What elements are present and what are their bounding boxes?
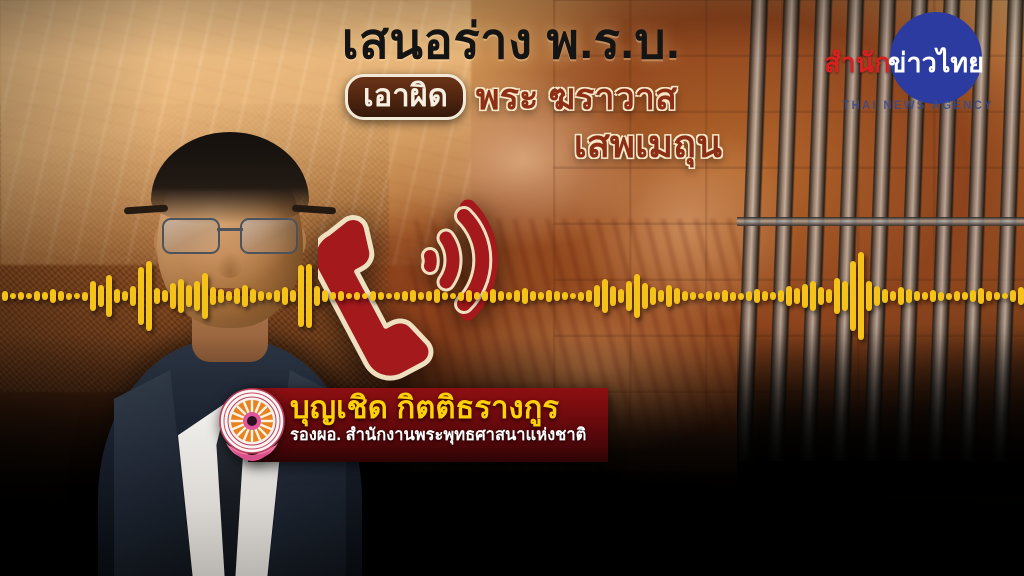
waveform-bar — [962, 292, 968, 300]
waveform-bar — [778, 290, 784, 302]
waveform-bar — [682, 291, 688, 301]
news-graphic-stage: เสนอร่าง พ.ร.บ. เอาผิด พระ ฆราวาส เสพเมถ… — [0, 0, 1024, 576]
dharma-wheel-emblem — [216, 385, 288, 465]
waveform-bar — [98, 285, 104, 307]
waveform-bar — [218, 289, 224, 303]
audio-waveform — [0, 246, 1024, 346]
waveform-bar — [2, 291, 8, 301]
waveform-bar — [130, 286, 136, 306]
waveform-bar — [914, 291, 920, 301]
waveform-bar — [482, 291, 488, 301]
waveform-bar — [50, 289, 56, 303]
waveform-bar — [74, 293, 80, 299]
name-banner: บุญเชิด กิตติธรางกูร รองผอ. สำนักงานพระพ… — [216, 388, 608, 462]
waveform-bar — [58, 291, 64, 301]
waveform-bar — [538, 292, 544, 300]
waveform-bar — [162, 290, 168, 302]
waveform-bar — [906, 289, 912, 303]
waveform-bar — [410, 290, 416, 302]
waveform-bar — [506, 292, 512, 300]
waveform-bar — [338, 291, 344, 301]
waveform-bar — [882, 289, 888, 303]
headline-line-3-wrap: เสพเมถุน — [286, 126, 736, 164]
waveform-bar — [610, 286, 616, 306]
waveform-bar — [714, 292, 720, 300]
waveform-bar — [754, 289, 760, 303]
waveform-bar — [674, 288, 680, 304]
waveform-bar — [34, 291, 40, 301]
waveform-bar — [994, 292, 1000, 300]
waveform-bar — [330, 292, 336, 300]
waveform-bar — [946, 293, 952, 300]
waveform-bar — [474, 292, 480, 300]
waveform-bar — [562, 292, 568, 300]
waveform-bar — [818, 287, 824, 305]
waveform-bar — [922, 292, 928, 300]
waveform-bar — [762, 291, 768, 301]
waveform-bar — [810, 281, 816, 311]
waveform-bar — [730, 292, 736, 301]
waveform-bar — [802, 284, 808, 308]
waveform-bar — [634, 274, 640, 318]
waveform-bar — [18, 292, 24, 300]
waveform-bar — [1002, 293, 1008, 299]
waveform-bar — [210, 287, 216, 305]
waveform-bar — [466, 290, 472, 302]
waveform-bar — [738, 293, 744, 300]
waveform-bar — [170, 283, 176, 309]
waveform-bar — [938, 292, 944, 301]
waveform-bar — [378, 292, 384, 300]
headline-badge: เอาผิด — [345, 74, 466, 120]
waveform-bar — [986, 291, 992, 301]
waveform-bar — [194, 281, 200, 311]
waveform-bar — [362, 293, 368, 299]
waveform-bar — [898, 287, 904, 305]
waveform-bar — [138, 267, 144, 325]
waveform-bar — [354, 292, 360, 300]
headline-block: เสนอร่าง พ.ร.บ. เอาผิด พระ ฆราวาส เสพเมถ… — [286, 18, 736, 164]
waveform-bar — [602, 279, 608, 313]
logo-english-text: THAI NEWS AGENCY — [842, 100, 994, 112]
waveform-bar — [978, 288, 984, 304]
logo-thai-red: สำนัก — [824, 41, 890, 84]
eyeglass-bridge — [217, 228, 243, 231]
waveform-bar — [426, 291, 432, 301]
waveform-bar — [154, 288, 160, 304]
waveform-bar — [554, 291, 560, 301]
waveform-bar — [26, 293, 32, 299]
waveform-bar — [490, 289, 496, 303]
waveform-bar — [242, 285, 248, 307]
waveform-bar — [290, 290, 296, 302]
waveform-bar — [322, 290, 328, 302]
waveform-bar — [10, 293, 16, 299]
waveform-bar — [770, 292, 776, 300]
waveform-bar — [650, 287, 656, 305]
waveform-bar — [314, 286, 320, 306]
waveform-bar — [858, 252, 864, 340]
waveform-bar — [82, 292, 88, 301]
waveform-bar — [106, 275, 112, 317]
waveform-bar — [386, 293, 392, 299]
thai-news-agency-logo: สำนัก ข่าวไทย THAI NEWS AGENCY — [820, 12, 1010, 120]
headline-line-2: พระ ฆราวาส — [476, 79, 677, 115]
waveform-bar — [1018, 287, 1024, 305]
headline-line-1: เสนอร่าง พ.ร.บ. — [286, 18, 736, 67]
waveform-bar — [418, 292, 424, 300]
waveform-bar — [954, 291, 960, 301]
waveform-bar — [578, 292, 584, 301]
logo-thai-white: ข่าวไทย — [888, 41, 984, 84]
waveform-bar — [690, 292, 696, 300]
waveform-bar — [746, 291, 752, 301]
waveform-bar — [186, 285, 192, 307]
waveform-bar — [842, 281, 848, 311]
waveform-bar — [146, 261, 152, 331]
waveform-bar — [298, 265, 304, 327]
waveform-bar — [514, 290, 520, 302]
waveform-bar — [114, 289, 120, 303]
waveform-bar — [930, 290, 936, 302]
waveform-bar — [394, 292, 400, 300]
waveform-bar — [1010, 290, 1016, 302]
waveform-bar — [594, 285, 600, 307]
waveform-bar — [42, 292, 48, 300]
waveform-bar — [306, 264, 312, 328]
waveform-bar — [642, 283, 648, 309]
waveform-bar — [522, 288, 528, 304]
waveform-bar — [826, 289, 832, 303]
waveform-bar — [90, 281, 96, 311]
waveform-bar — [122, 291, 128, 301]
waveform-bar — [498, 291, 504, 301]
waveform-bar — [546, 290, 552, 302]
waveform-bar — [658, 290, 664, 302]
waveform-bar — [66, 293, 72, 300]
waveform-bar — [234, 288, 240, 304]
waveform-bar — [530, 291, 536, 301]
waveform-bar — [258, 291, 264, 301]
waveform-bar — [626, 281, 632, 311]
waveform-bar — [794, 288, 800, 304]
headline-row-2: เอาผิด พระ ฆราวาส — [286, 74, 736, 120]
name-banner-text: บุญเชิด กิตติธรางกูร รองผอ. สำนักงานพระพ… — [290, 392, 598, 444]
waveform-bar — [402, 291, 408, 301]
waveform-bar — [586, 290, 592, 302]
waveform-bar — [450, 293, 456, 299]
waveform-bar — [370, 291, 376, 301]
waveform-bar — [970, 290, 976, 302]
headline-line-3: เสพเมถุน — [574, 124, 722, 166]
waveform-bar — [458, 292, 464, 301]
waveform-bar — [178, 279, 184, 313]
waveform-bar — [706, 291, 712, 301]
waveform-bar — [266, 292, 272, 300]
person-name: บุญเชิด กิตติธรางกูร — [290, 392, 598, 425]
waveform-bar — [866, 281, 872, 311]
waveform-bar — [786, 286, 792, 306]
waveform-bar — [202, 273, 208, 319]
waveform-bar — [850, 261, 856, 331]
waveform-bar — [434, 289, 440, 303]
waveform-bar — [226, 291, 232, 301]
waveform-bar — [282, 287, 288, 305]
waveform-bar — [834, 278, 840, 314]
person-title: รองผอ. สำนักงานพระพุทธศาสนาแห่งชาติ — [290, 426, 598, 444]
waveform-bar — [250, 289, 256, 303]
waveform-bar — [722, 290, 728, 302]
waveform-bar — [442, 292, 448, 300]
waveform-bar — [874, 286, 880, 306]
waveform-bar — [570, 293, 576, 299]
waveform-bar — [890, 291, 896, 301]
waveform-bar — [274, 290, 280, 302]
waveform-bar — [618, 289, 624, 303]
waveform-bar — [698, 293, 704, 299]
waveform-bar — [346, 293, 352, 299]
waveform-bar — [666, 285, 672, 307]
